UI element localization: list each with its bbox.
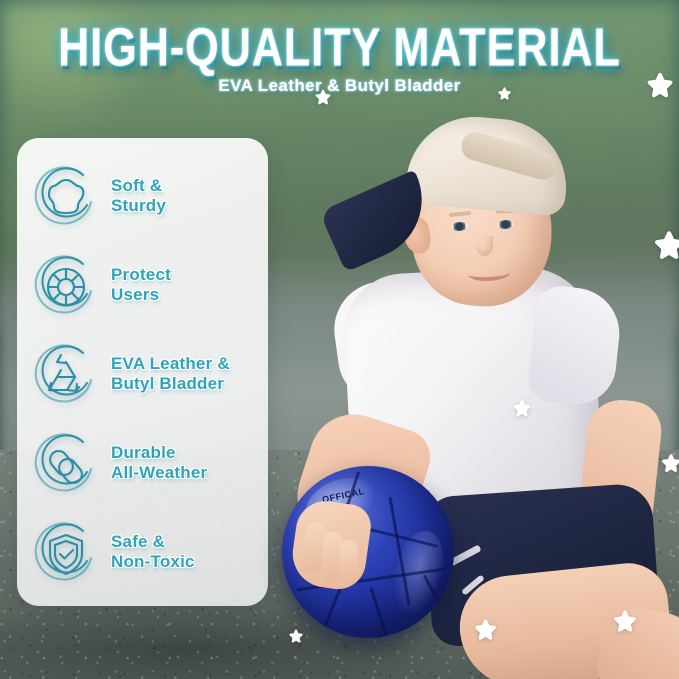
recycle-arrows-icon xyxy=(29,337,103,411)
feature-label: EVA Leather & Butyl Bladder xyxy=(111,354,230,394)
feature-label: Protect Users xyxy=(111,265,171,305)
feature-item-soft-sturdy: Soft & Sturdy xyxy=(29,154,258,238)
boy-hand-overlay-group xyxy=(300,70,679,670)
feature-item-protect-users: Protect Users xyxy=(29,243,258,327)
shield-check-icon xyxy=(29,515,103,589)
feature-item-eva-leather-butyl-bladder: EVA Leather & Butyl Bladder xyxy=(29,332,258,416)
leather-hide-icon xyxy=(29,159,103,233)
feature-label: Soft & Sturdy xyxy=(111,176,166,216)
feature-label: Durable All-Weather xyxy=(111,443,207,483)
feature-item-safe-non-toxic: Safe & Non-Toxic xyxy=(29,510,258,594)
feature-item-durable-all-weather: Durable All-Weather xyxy=(29,421,258,505)
life-ring-icon xyxy=(29,248,103,322)
chain-link-icon xyxy=(29,426,103,500)
boy-finger xyxy=(340,540,358,584)
feature-label: Safe & Non-Toxic xyxy=(111,532,195,572)
feature-list-panel: Soft & Sturdy Protect Users xyxy=(17,138,268,606)
promo-image-stage: OFFICAL 3 WEIGHT HIGH-QUALITY MATERIAL E… xyxy=(0,0,679,679)
